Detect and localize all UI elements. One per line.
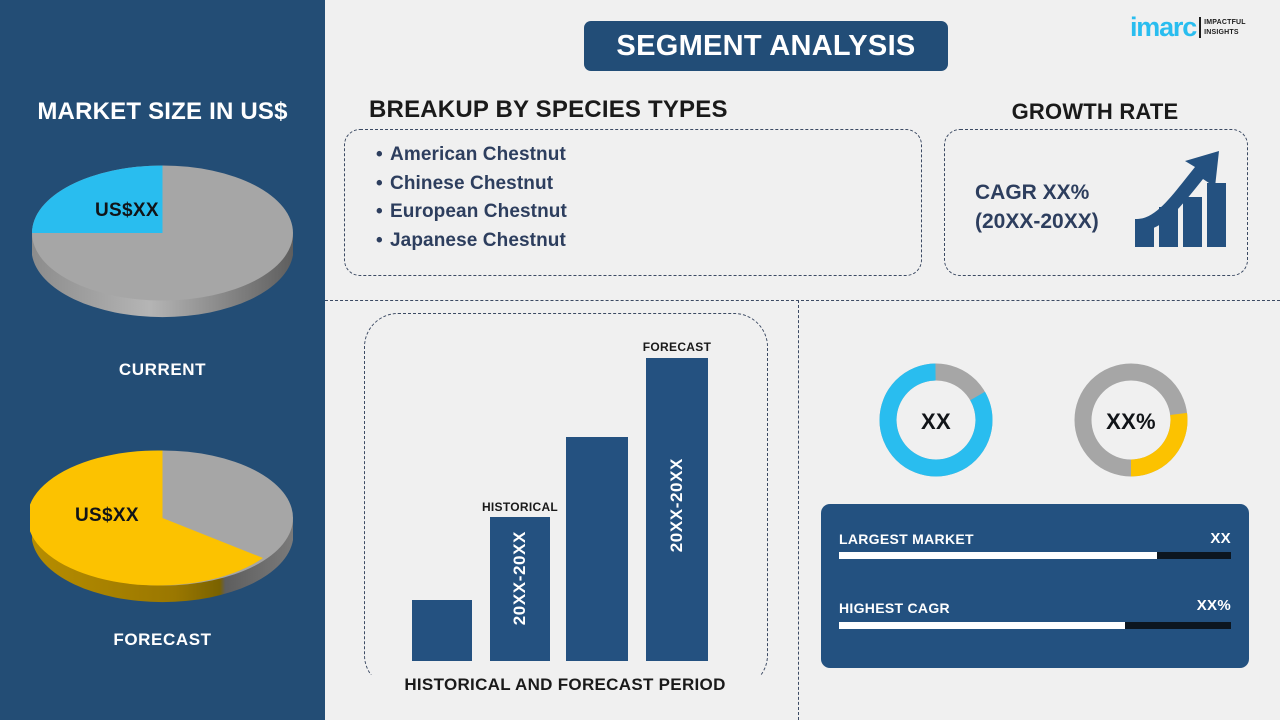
bar-1 [412,600,472,661]
bar-2-label: 20XX-20XX [510,531,530,625]
cagr-period: (20XX-20XX) [975,207,1099,236]
highest-cagr-donut: XX% [1073,362,1189,483]
current-pie-chart [30,155,295,320]
bar-4: 20XX-20XX [646,358,708,661]
metric-value-highest-cagr: XX% [1169,597,1231,614]
metric-bar-fill [839,552,1157,559]
sidebar-title: MARKET SIZE IN US$ [0,98,325,126]
list-item: •American Chestnut [376,141,567,170]
logo-wordmark: imarc [1130,14,1196,41]
bullet-icon: • [376,141,390,170]
highest-cagr-donut-value: XX% [1073,409,1189,435]
breakup-list: •American Chestnut •Chinese Chestnut •Eu… [376,141,567,255]
page-title: SEGMENT ANALYSIS [584,21,948,71]
forecast-pie-value: US$XX [75,505,139,527]
bullet-icon: • [376,227,390,256]
growth-rate-heading: GROWTH RATE [945,99,1245,125]
growth-arrow-bar-icon [1133,145,1229,250]
bullet-icon: • [376,170,390,199]
metric-label-highest-cagr: HIGHEST CAGR [839,600,950,616]
list-item: •Chinese Chestnut [376,170,567,199]
vertical-divider [798,300,799,720]
current-pie-value: US$XX [95,200,159,222]
bullet-icon: • [376,198,390,227]
logo-tagline-line1: IMPACTFUL [1204,18,1246,27]
bar-chart-axis-label: HISTORICAL AND FORECAST PERIOD [364,675,766,695]
largest-market-donut: XX [878,362,994,483]
logo-tagline-line2: INSIGHTS [1204,28,1246,37]
bar-4-label: 20XX-20XX [667,458,687,552]
infographic-canvas: MARKET SIZE IN US$ US$XX CURRE [0,0,1280,720]
list-item: •Japanese Chestnut [376,227,567,256]
list-item-label: Japanese Chestnut [390,230,566,251]
metric-bar-fill [839,622,1125,629]
list-item: •European Chestnut [376,198,567,227]
forecast-pie-label: FORECAST [0,630,325,650]
logo-divider [1199,17,1201,38]
metric-bar-highest-cagr [839,622,1231,629]
horizontal-divider [325,300,1280,301]
list-item-label: European Chestnut [390,201,567,222]
market-size-sidebar: MARKET SIZE IN US$ US$XX CURRE [0,0,325,720]
list-item-label: American Chestnut [390,144,566,165]
imarc-logo: imarc IMPACTFUL INSIGHTS [1130,14,1246,41]
cagr-text: CAGR XX% (20XX-20XX) [975,178,1099,236]
bar-3 [566,437,628,661]
key-metrics-panel: LARGEST MARKET XX HIGHEST CAGR XX% [821,504,1249,668]
logo-tagline: IMPACTFUL INSIGHTS [1204,18,1246,36]
bar-annotation-historical: HISTORICAL [470,500,570,514]
list-item-label: Chinese Chestnut [390,173,553,194]
bar-2: 20XX-20XX [490,517,550,661]
forecast-pie-chart [30,440,295,605]
current-pie-label: CURRENT [0,360,325,380]
metric-bar-largest-market [839,552,1231,559]
cagr-value: CAGR XX% [975,178,1099,207]
metric-label-largest-market: LARGEST MARKET [839,531,974,547]
largest-market-donut-value: XX [878,409,994,435]
breakup-heading: BREAKUP BY SPECIES TYPES [369,96,728,124]
metric-value-largest-market: XX [1169,530,1231,547]
bar-annotation-forecast: FORECAST [627,340,727,354]
